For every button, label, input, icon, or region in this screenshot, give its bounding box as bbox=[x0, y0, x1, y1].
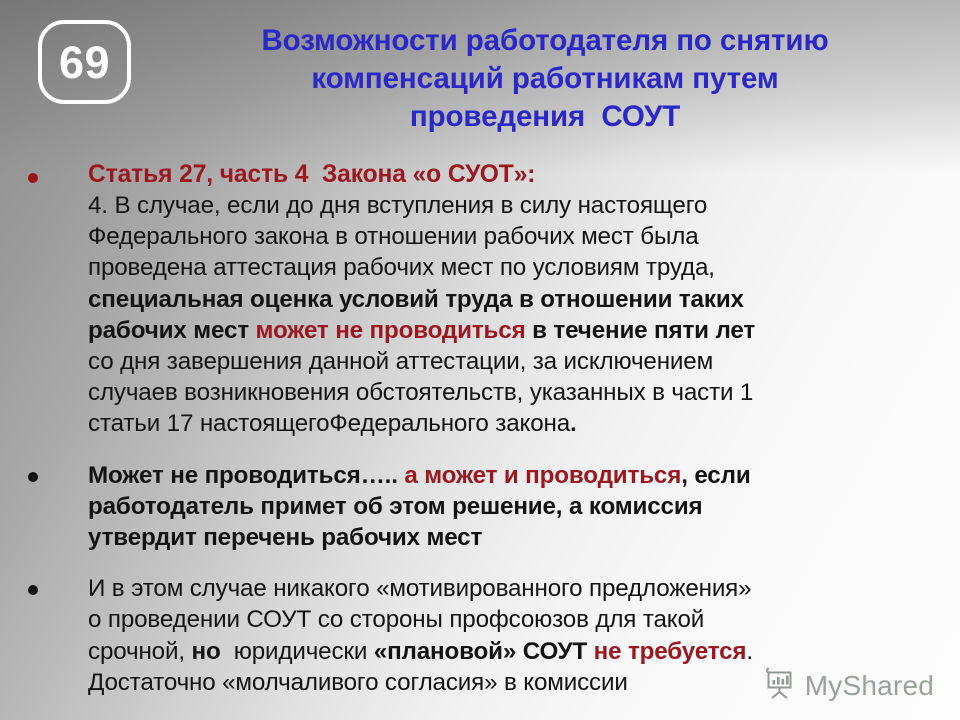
text-line: о проведении СОУТ со стороны профсоюзов … bbox=[88, 604, 944, 635]
text-run: 4. В случае, если до дня вступления в си… bbox=[88, 192, 707, 219]
text-run: Достаточно «молчаливого согласия» в коми… bbox=[88, 669, 628, 696]
slide-number-text: 69 bbox=[59, 40, 110, 85]
page-title: Возможности работодателя по снятию компе… bbox=[150, 22, 940, 135]
presentation-chart-icon bbox=[763, 667, 797, 704]
text-run: утвердит перечень рабочих мест bbox=[88, 524, 482, 551]
text-run: юридически bbox=[221, 638, 374, 665]
myshared-watermark-text: MyShared bbox=[805, 670, 934, 702]
text-run: статьи 17 настоящегоФедерального закона bbox=[88, 410, 570, 437]
text-run: И в этом случае никакого «мотивированног… bbox=[88, 575, 751, 602]
bullet-marker-icon bbox=[28, 173, 38, 183]
text-line: специальная оценка условий труда в отнош… bbox=[88, 284, 944, 315]
text-line: 4. В случае, если до дня вступления в си… bbox=[88, 190, 944, 221]
page-title-line-2: компенсаций работникам путем bbox=[150, 60, 940, 98]
text-line: со дня завершения данной аттестации, за … bbox=[88, 346, 944, 377]
text-run: но bbox=[191, 638, 220, 665]
text-line: Федерального закона в отношении рабочих … bbox=[88, 221, 944, 252]
text-run: работодатель примет об этом решение, а к… bbox=[88, 493, 703, 520]
text-run: случаев возникновения обстоятельств, ука… bbox=[88, 379, 753, 406]
bullet-1-paragraph: 4. В случае, если до дня вступления в си… bbox=[88, 190, 944, 440]
text-run: может не проводиться bbox=[256, 317, 526, 344]
slide-header: 69 Возможности работодателя по снятию ко… bbox=[0, 0, 960, 156]
text-line: срочной, но юридически «плановой» СОУТ н… bbox=[88, 636, 944, 667]
text-run: Федерального закона в отношении рабочих … bbox=[88, 223, 699, 250]
slide-body: Статья 27, часть 4 Закона «о СУОТ»: 4. В… bbox=[0, 160, 960, 698]
text-run: в течение пяти лет bbox=[526, 317, 755, 344]
text-line: проведена аттестация рабочих мест по усл… bbox=[88, 252, 944, 283]
bullet-item-1: Статья 27, часть 4 Закона «о СУОТ»: 4. В… bbox=[0, 160, 960, 440]
text-line: случаев возникновения обстоятельств, ука… bbox=[88, 377, 944, 408]
text-line: Может не проводиться….. а может и провод… bbox=[88, 460, 944, 491]
bullet-marker-icon bbox=[28, 585, 38, 595]
slide-canvas: 69 Возможности работодателя по снятию ко… bbox=[0, 0, 960, 720]
bullet-2-paragraph: Может не проводиться….. а может и провод… bbox=[88, 460, 944, 554]
text-run: со дня завершения данной аттестации, за … bbox=[88, 348, 713, 375]
text-run: рабочих мест bbox=[88, 317, 256, 344]
text-run: . bbox=[746, 638, 753, 665]
text-run: срочной, bbox=[88, 638, 191, 665]
myshared-watermark: MyShared bbox=[763, 667, 934, 704]
page-title-line-1: Возможности работодателя по снятию bbox=[150, 22, 940, 60]
text-line: работодатель примет об этом решение, а к… bbox=[88, 491, 944, 522]
text-run: Может не проводиться….. bbox=[88, 462, 404, 489]
page-title-line-3: проведения СОУТ bbox=[150, 98, 940, 136]
text-run: о проведении СОУТ со стороны профсоюзов … bbox=[88, 606, 704, 633]
text-line: рабочих мест может не проводиться в тече… bbox=[88, 315, 944, 346]
text-run bbox=[587, 638, 594, 665]
bullet-marker-icon bbox=[28, 472, 38, 482]
text-line: статьи 17 настоящегоФедерального закона. bbox=[88, 408, 944, 439]
text-run: проведена аттестация рабочих мест по усл… bbox=[88, 254, 715, 281]
text-run: специальная оценка условий труда в отнош… bbox=[88, 286, 744, 313]
text-run: не требуется bbox=[594, 638, 747, 665]
text-line: утвердит перечень рабочих мест bbox=[88, 522, 944, 553]
slide-number-badge: 69 bbox=[38, 20, 131, 104]
bullet-1-heading: Статья 27, часть 4 Закона «о СУОТ»: bbox=[88, 160, 944, 190]
text-run: а может и проводиться bbox=[404, 462, 681, 489]
text-run: , если bbox=[681, 462, 750, 489]
text-line: И в этом случае никакого «мотивированног… bbox=[88, 573, 944, 604]
text-run: «плановой» СОУТ bbox=[374, 638, 587, 665]
bullet-item-2: Может не проводиться….. а может и провод… bbox=[0, 460, 960, 554]
text-run: . bbox=[570, 410, 577, 437]
